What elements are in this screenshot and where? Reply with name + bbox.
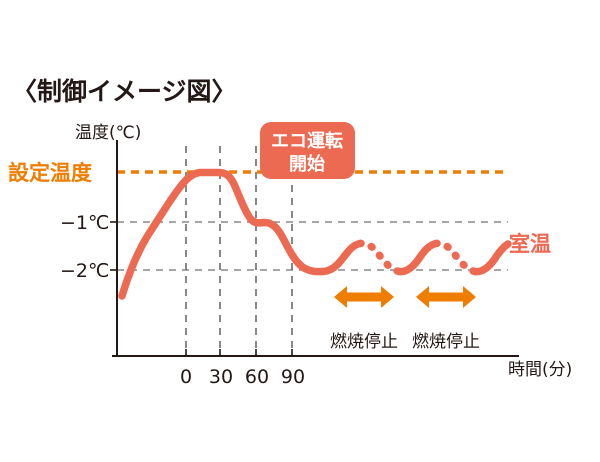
y-tick-label-minus1: −1℃	[60, 212, 109, 234]
callout-line-2: 開始	[289, 153, 325, 175]
y-tick-label-minus2: −2℃	[60, 260, 109, 282]
setpoint-label: 設定温度	[8, 161, 92, 185]
annotation-label-2: 燃焼停止	[412, 332, 480, 352]
double-arrow-2	[416, 286, 476, 308]
curve-segment-stopped-1	[360, 243, 399, 271]
annotation-label-1: 燃焼停止	[330, 332, 398, 352]
curve-segment-stopped-2	[436, 243, 475, 271]
x-tick-label-90: 90	[281, 366, 305, 388]
series-label-room-temperature: 室温	[509, 232, 551, 256]
callout-line-1: エコ運転	[271, 130, 343, 152]
curve-segment-burning-3	[475, 244, 508, 272]
x-tick-label-60: 60	[245, 366, 269, 388]
curve-segment-burning-2	[399, 244, 436, 272]
x-tick-label-0: 0	[180, 366, 192, 388]
control-image-diagram: 〈制御イメージ図〉 温度(℃) −1℃ −2℃ 設定温度 0 30 60 90 …	[0, 0, 600, 462]
callout-eco-start[interactable]: エコ運転 開始	[260, 122, 355, 179]
x-tick-label-30: 30	[209, 366, 233, 388]
x-axis-title: 時間(分)	[508, 360, 572, 380]
curve-segment-heating	[122, 173, 360, 297]
y-axis-title: 温度(℃)	[75, 123, 141, 143]
page-title: 〈制御イメージ図〉	[12, 77, 237, 106]
double-arrow-1	[334, 286, 394, 308]
